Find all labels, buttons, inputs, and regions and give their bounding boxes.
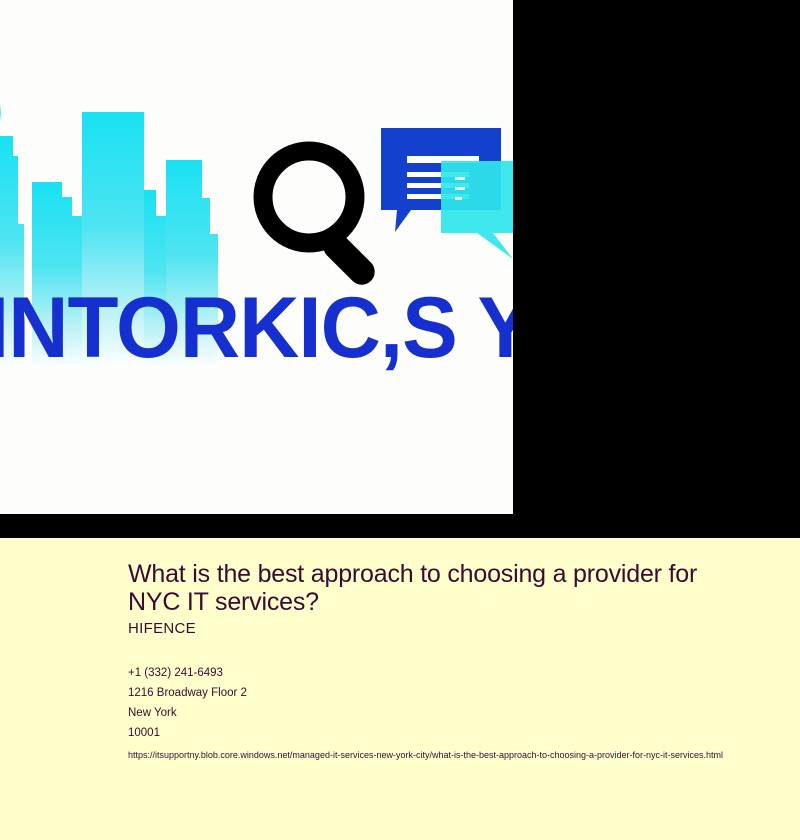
contact-phone[interactable]: +1 (332) 241-6493 xyxy=(128,663,748,683)
page-title: What is the best approach to choosing a … xyxy=(128,560,728,616)
hero-media-band: INTORKIC,S Y xyxy=(0,0,800,538)
article-url-link[interactable]: https://itsupportny.blob.core.windows.ne… xyxy=(128,745,728,765)
brand-name: HIFENCE xyxy=(128,620,748,637)
article-hero-image: INTORKIC,S Y xyxy=(0,0,513,514)
speech-bubble-icon xyxy=(441,161,513,271)
article-panel: What is the best approach to choosing a … xyxy=(0,538,800,840)
contact-postal-code: 10001 xyxy=(128,723,748,743)
contact-street: 1216 Broadway Floor 2 xyxy=(128,683,748,703)
contact-block: +1 (332) 241-6493 1216 Broadway Floor 2 … xyxy=(128,663,748,765)
contact-city: New York xyxy=(128,703,748,723)
magnifying-glass-icon xyxy=(252,140,397,285)
hero-wordmark: INTORKIC,S Y xyxy=(0,278,513,378)
article-content: What is the best approach to choosing a … xyxy=(128,560,748,765)
